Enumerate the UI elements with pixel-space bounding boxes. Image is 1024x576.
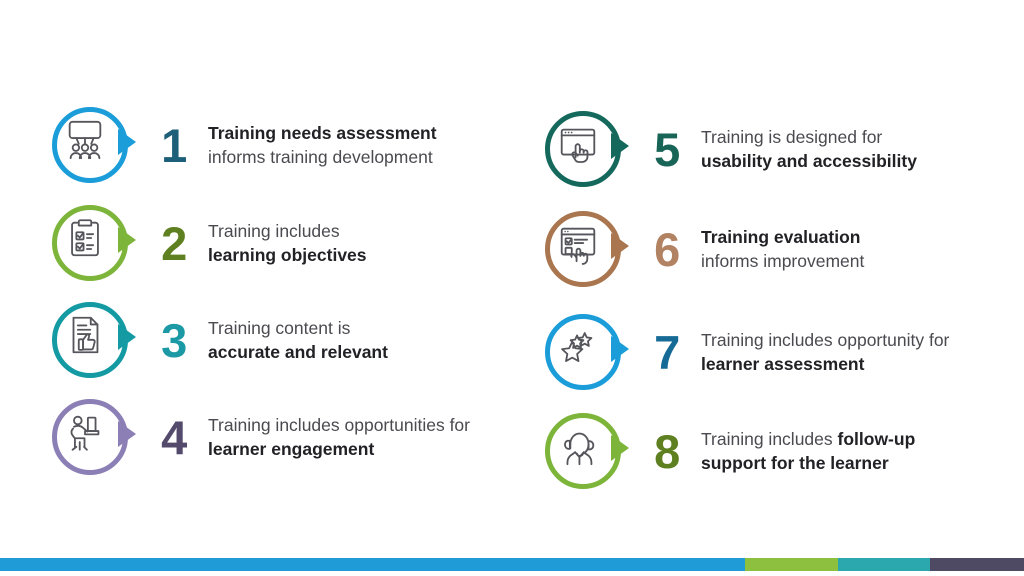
badge-1	[40, 101, 146, 191]
accent-segment-blue	[0, 558, 745, 571]
item-text-1: Training needs assessment informs traini…	[200, 122, 540, 168]
pointer-8	[611, 435, 629, 461]
accent-segment-teal	[838, 558, 930, 571]
pointer-1	[118, 129, 136, 155]
item-line1-bold-1: Training needs assessment	[208, 123, 437, 143]
item-line1-light-2: Training includes	[208, 221, 340, 241]
pointer-5	[611, 133, 629, 159]
badge-4	[40, 393, 146, 483]
item-number-7: 7	[641, 329, 693, 376]
pointer-6	[611, 233, 629, 259]
item-number-5: 5	[641, 126, 693, 173]
list-item-4[interactable]: 4 Training includes opportunities for le…	[40, 390, 540, 485]
right-column: 5 Training is designed for usability and…	[533, 0, 1024, 530]
survey-form-hand-icon	[555, 221, 601, 267]
item-text-2: Training includes learning objectives	[200, 220, 540, 266]
item-number-8: 8	[641, 428, 693, 475]
item-line1-light-7: Training includes opportunity for	[701, 330, 949, 350]
item-text-8: Training includes follow-up support for …	[693, 428, 1024, 474]
bottom-accent-bar	[0, 558, 1024, 571]
item-line2-bold-8: support for the learner	[701, 453, 889, 473]
item-line1-light-3: Training content is	[208, 318, 350, 338]
three-stars-icon	[555, 324, 601, 370]
left-column: 1 Training needs assessment informs trai…	[40, 0, 540, 530]
list-item-1[interactable]: 1 Training needs assessment informs trai…	[40, 98, 540, 193]
badge-2	[40, 199, 146, 289]
item-line2-bold-5: usability and accessibility	[701, 151, 917, 171]
document-thumbs-up-icon	[62, 312, 108, 358]
badge-6	[533, 205, 639, 295]
item-text-5: Training is designed for usability and a…	[693, 126, 1024, 172]
accent-segment-purple	[930, 558, 1024, 571]
pointer-4	[118, 421, 136, 447]
item-number-4: 4	[148, 414, 200, 461]
headset-support-person-icon	[555, 423, 601, 469]
badge-7	[533, 308, 639, 398]
list-item-7[interactable]: 7 Training includes opportunity for lear…	[533, 305, 1024, 400]
item-line2-bold-2: learning objectives	[208, 245, 367, 265]
item-line1-light-4: Training includes opportunities for	[208, 415, 470, 435]
item-line1-light-8: Training includes	[701, 429, 838, 449]
item-line1-light-5: Training is designed for	[701, 127, 882, 147]
item-number-3: 3	[148, 317, 200, 364]
item-line1-bold-6: Training evaluation	[701, 227, 860, 247]
list-item-8[interactable]: 8 Training includes follow-up support fo…	[533, 404, 1024, 499]
pointer-7	[611, 336, 629, 362]
browser-tap-hand-icon	[555, 121, 601, 167]
item-line2-bold-4: learner engagement	[208, 439, 374, 459]
list-item-6[interactable]: 6 Training evaluation informs improvemen…	[533, 202, 1024, 297]
list-item-2[interactable]: 2 Training includes learning objectives	[40, 196, 540, 291]
list-item-5[interactable]: 5 Training is designed for usability and…	[533, 102, 1024, 197]
item-line2-light-6: informs improvement	[701, 251, 864, 271]
item-line2-bold-7: learner assessment	[701, 354, 864, 374]
item-text-6: Training evaluation informs improvement	[693, 226, 1024, 272]
item-line2-light-1: informs training development	[208, 147, 433, 167]
slide-canvas: 1 Training needs assessment informs trai…	[0, 0, 1024, 576]
item-text-4: Training includes opportunities for lear…	[200, 414, 540, 460]
pointer-3	[118, 324, 136, 350]
item-line2-bold-3: accurate and relevant	[208, 342, 388, 362]
badge-8	[533, 407, 639, 497]
list-item-3[interactable]: 3 Training content is accurate and relev…	[40, 293, 540, 388]
accent-segment-green	[745, 558, 838, 571]
item-number-6: 6	[641, 226, 693, 273]
items-grid: 1 Training needs assessment informs trai…	[0, 0, 1024, 530]
item-line1-bold-8: follow-up	[838, 429, 916, 449]
item-text-3: Training content is accurate and relevan…	[200, 317, 540, 363]
item-number-1: 1	[148, 122, 200, 169]
item-text-7: Training includes opportunity for learne…	[693, 329, 1024, 375]
person-at-computer-icon	[62, 409, 108, 455]
speech-bubble-people-icon	[62, 117, 108, 163]
badge-3	[40, 296, 146, 386]
item-number-2: 2	[148, 220, 200, 267]
badge-5	[533, 105, 639, 195]
clipboard-checklist-icon	[62, 215, 108, 261]
pointer-2	[118, 227, 136, 253]
